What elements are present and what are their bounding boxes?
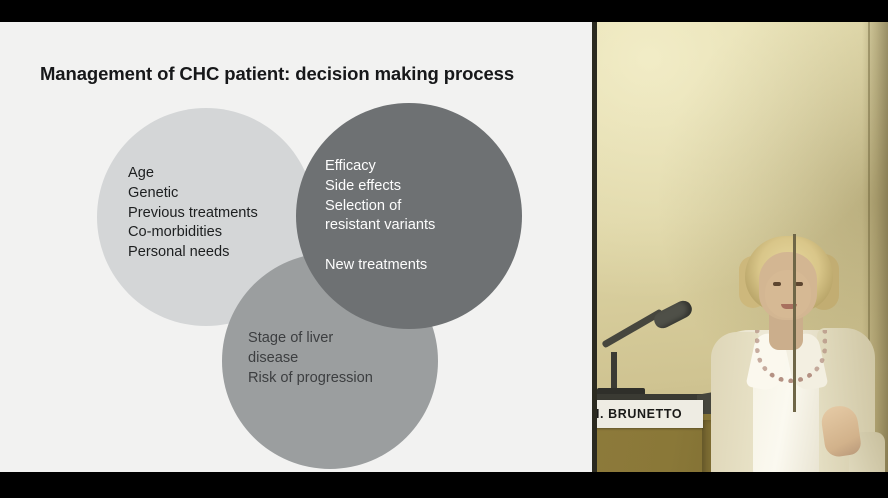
patient-factors-label: Age Genetic Previous treatments Co-morbi…: [128, 164, 258, 263]
screen-capture: Management of CHC patient: decision maki…: [0, 0, 888, 498]
speaker-nameplate-text: M. BRUNETTO: [597, 407, 682, 421]
letterbox-top: [0, 0, 888, 22]
speaker-video-panel: M. BRUNETTO: [597, 22, 888, 472]
panel-divider: [592, 22, 597, 472]
cable: [793, 234, 796, 412]
presentation-slide: Management of CHC patient: decision maki…: [0, 22, 592, 472]
speaker-eye-left: [773, 282, 781, 286]
treatment-factors-label-secondary: New treatments: [325, 256, 427, 276]
speaker-figure: [689, 234, 888, 472]
venn-diagram: Age Genetic Previous treatments Co-morbi…: [0, 22, 592, 472]
letterbox-bottom: [0, 472, 888, 498]
disease-factors-label: Stage of liver disease Risk of progressi…: [248, 329, 373, 388]
treatment-factors-label: Efficacy Side effects Selection of resis…: [325, 157, 435, 236]
speaker-nameplate: M. BRUNETTO: [597, 400, 703, 428]
microphone-stand: [611, 352, 617, 392]
speaker-eye-right: [795, 282, 803, 286]
speaker-face: [765, 270, 811, 318]
